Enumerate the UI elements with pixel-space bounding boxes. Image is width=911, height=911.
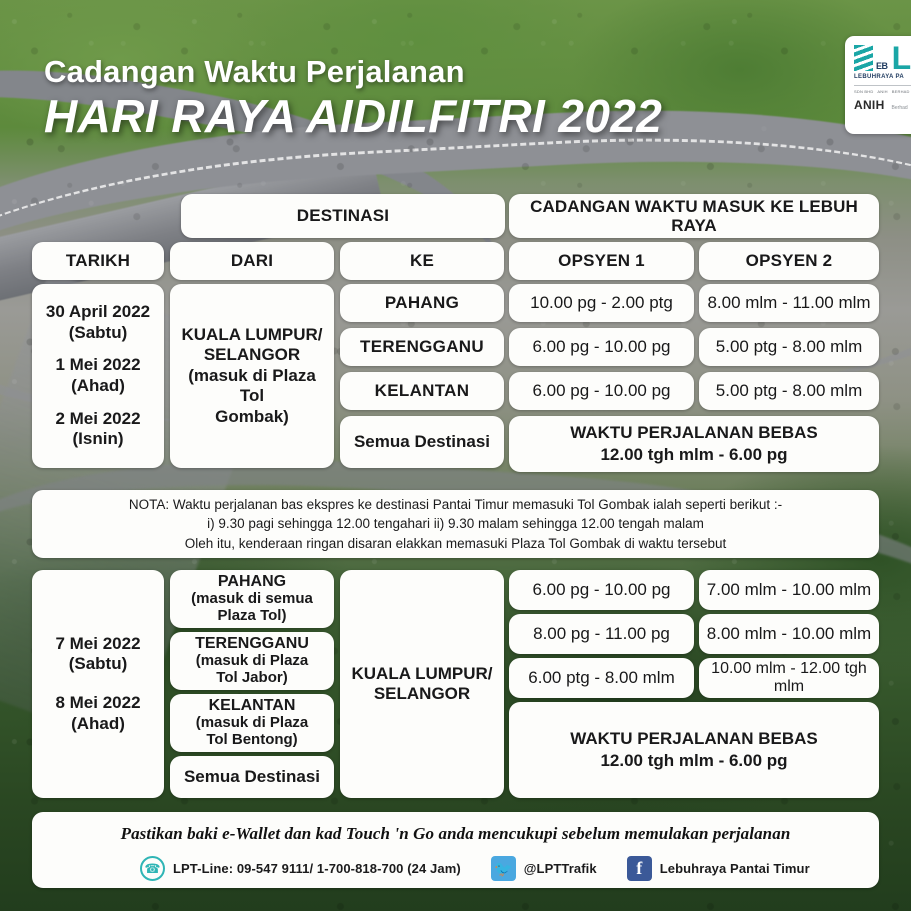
section1-date-line-1: 30 April 2022 bbox=[46, 302, 150, 323]
section2-row-1-opsyen2: 8.00 mlm - 10.00 mlm bbox=[699, 614, 879, 654]
section2-row-2-opsyen1: 6.00 ptg - 8.00 mlm bbox=[509, 658, 694, 698]
group-header-waktu-masuk: CADANGAN WAKTU MASUK KE LEBUH RAYA bbox=[509, 194, 879, 238]
contact-facebook[interactable]: f Lebuhraya Pantai Timur bbox=[627, 856, 810, 881]
section2-destination-line-2: SELANGOR bbox=[374, 684, 470, 704]
section1-from-line-2: SELANGOR bbox=[204, 345, 300, 365]
note-line-2: i) 9.30 pagi sehingga 12.00 tengahari ii… bbox=[207, 514, 704, 533]
footer-panel: Pastikan baki e-Wallet dan kad Touch 'n … bbox=[32, 812, 879, 888]
section2-row-1-origin-note-1: (masuk di Plaza bbox=[196, 653, 309, 670]
logo-subtitle: LEBUHRAYA PA bbox=[854, 74, 911, 80]
phone-icon: ☎ bbox=[140, 856, 165, 881]
section1-from-line-4: Gombak) bbox=[215, 407, 289, 427]
section2-row-2-origin-note-2: Tol Bentong) bbox=[206, 732, 297, 749]
poster-root: Cadangan Waktu Perjalanan HARI RAYA AIDI… bbox=[0, 0, 911, 911]
contact-phone[interactable]: ☎ LPT-Line: 09-547 9111/ 1-700-818-700 (… bbox=[140, 856, 461, 881]
section2-row-2-opsyen2: 10.00 mlm - 12.00 tgh mlm bbox=[699, 658, 879, 698]
section2-date-line-4: (Ahad) bbox=[71, 714, 125, 735]
section1-all-destinations: Semua Destinasi bbox=[340, 416, 504, 468]
section2-row-1-opsyen1: 8.00 pg - 11.00 pg bbox=[509, 614, 694, 654]
section2-row-2-origin-note-1: (masuk di Plaza bbox=[196, 715, 309, 732]
section2-date-line-2: (Sabtu) bbox=[69, 654, 128, 675]
column-header-opsyen-2: OPSYEN 2 bbox=[699, 242, 879, 280]
section2-row-2-origin-name: KELANTAN bbox=[209, 697, 296, 715]
section2-row-0-opsyen2: 7.00 mlm - 10.00 mlm bbox=[699, 570, 879, 610]
section2-date-line-3: 8 Mei 2022 bbox=[55, 693, 140, 714]
section1-row-2-destination: KELANTAN bbox=[340, 372, 504, 410]
group-header-destinasi: DESTINASI bbox=[181, 194, 505, 238]
section1-date-line-5: 2 Mei 2022 bbox=[55, 409, 140, 430]
section2-destination-cell: KUALA LUMPUR/ SELANGOR bbox=[340, 570, 504, 798]
note-panel: NOTA: Waktu perjalanan bas ekspres ke de… bbox=[32, 490, 879, 558]
subtitle-text: Cadangan Waktu Perjalanan bbox=[44, 56, 662, 89]
contact-twitter[interactable]: 🐦 @LPTTrafik bbox=[491, 856, 597, 881]
logo-anih-text: ANIH bbox=[854, 98, 885, 112]
logo-anih-note: Berhad bbox=[892, 105, 908, 111]
section2-row-0-origin-note-1: (masuk di semua bbox=[191, 591, 313, 608]
logo-micro-mid: ANIH bbox=[877, 89, 887, 94]
section1-row-0-opsyen2: 8.00 mlm - 11.00 mlm bbox=[699, 284, 879, 322]
section1-date-line-6: (Isnin) bbox=[73, 429, 124, 450]
twitter-label: @LPTTrafik bbox=[524, 861, 597, 876]
facebook-label: Lebuhraya Pantai Timur bbox=[660, 861, 810, 876]
phone-label: LPT-Line: 09-547 9111/ 1-700-818-700 (24… bbox=[173, 861, 461, 876]
section1-free-time: 12.00 tgh mlm - 6.00 pg bbox=[600, 444, 787, 466]
logo-bars-icon bbox=[854, 45, 873, 71]
section2-row-2-origin: KELANTAN (masuk di Plaza Tol Bentong) bbox=[170, 694, 334, 752]
section1-free-title: WAKTU PERJALANAN BEBAS bbox=[570, 422, 817, 444]
page-title: HARI RAYA AIDILFITRI 2022 bbox=[44, 93, 662, 140]
section2-row-1-origin-note-2: Tol Jabor) bbox=[216, 670, 287, 687]
note-line-3: Oleh itu, kenderaan ringan disaran elakk… bbox=[185, 534, 727, 553]
section1-date-line-3: 1 Mei 2022 bbox=[55, 355, 140, 376]
section2-date-cell: 7 Mei 2022 (Sabtu) 8 Mei 2022 (Ahad) bbox=[32, 570, 164, 798]
section2-destination-line-1: KUALA LUMPUR/ bbox=[351, 664, 492, 684]
section1-row-2-opsyen1: 6.00 pg - 10.00 pg bbox=[509, 372, 694, 410]
section2-date-line-1: 7 Mei 2022 bbox=[55, 634, 140, 655]
section1-row-2-opsyen2: 5.00 ptg - 8.00 mlm bbox=[699, 372, 879, 410]
section1-free-travel-cell: WAKTU PERJALANAN BEBAS 12.00 tgh mlm - 6… bbox=[509, 416, 879, 472]
footer-reminder-text: Pastikan baki e-Wallet dan kad Touch 'n … bbox=[32, 824, 879, 844]
section1-date-line-2: (Sabtu) bbox=[69, 323, 128, 344]
twitter-icon: 🐦 bbox=[491, 856, 516, 881]
section1-row-0-destination: PAHANG bbox=[340, 284, 504, 322]
section1-row-1-destination: TERENGGANU bbox=[340, 328, 504, 366]
section2-free-time: 12.00 tgh mlm - 6.00 pg bbox=[600, 750, 787, 772]
logo-micro-row: SDN BHD ANIH BERHAD bbox=[854, 89, 911, 94]
section2-row-1-origin: TERENGGANU (masuk di Plaza Tol Jabor) bbox=[170, 632, 334, 690]
section1-row-0-opsyen1: 10.00 pg - 2.00 ptg bbox=[509, 284, 694, 322]
logo-divider bbox=[854, 85, 911, 86]
logo-mark-row: EB LPT bbox=[854, 45, 911, 71]
section1-date-cell: 30 April 2022 (Sabtu) 1 Mei 2022 (Ahad) … bbox=[32, 284, 164, 468]
logo-micro-right: BERHAD bbox=[892, 89, 910, 94]
lpt-anih-logo: EB LPT LEBUHRAYA PA SDN BHD ANIH BERHAD … bbox=[845, 36, 911, 134]
section1-row-1-opsyen2: 5.00 ptg - 8.00 mlm bbox=[699, 328, 879, 366]
section2-row-0-origin: PAHANG (masuk di semua Plaza Tol) bbox=[170, 570, 334, 628]
column-header-tarikh: TARIKH bbox=[32, 242, 164, 280]
facebook-icon: f bbox=[627, 856, 652, 881]
section1-from-cell: KUALA LUMPUR/ SELANGOR (masuk di Plaza T… bbox=[170, 284, 334, 468]
section2-free-travel-cell: WAKTU PERJALANAN BEBAS 12.00 tgh mlm - 6… bbox=[509, 702, 879, 798]
footer-contacts: ☎ LPT-Line: 09-547 9111/ 1-700-818-700 (… bbox=[140, 856, 810, 881]
section2-row-1-origin-name: TERENGGANU bbox=[195, 635, 309, 653]
section2-row-0-origin-name: PAHANG bbox=[218, 573, 286, 591]
column-header-ke: KE bbox=[340, 242, 504, 280]
section2-all-destinations: Semua Destinasi bbox=[170, 756, 334, 798]
section1-row-1-opsyen1: 6.00 pg - 10.00 pg bbox=[509, 328, 694, 366]
logo-lpt-text: LPT bbox=[892, 46, 911, 71]
section2-row-0-opsyen1: 6.00 pg - 10.00 pg bbox=[509, 570, 694, 610]
section1-from-line-3: (masuk di Plaza Tol bbox=[176, 366, 328, 407]
logo-micro-left: SDN BHD bbox=[854, 89, 873, 94]
logo-anih-row: ANIH Berhad bbox=[854, 98, 911, 112]
logo-eb-text: EB bbox=[876, 61, 888, 71]
poster-header: Cadangan Waktu Perjalanan HARI RAYA AIDI… bbox=[44, 56, 662, 139]
section2-row-0-origin-note-2: Plaza Tol) bbox=[218, 608, 287, 625]
section1-date-line-4: (Ahad) bbox=[71, 376, 125, 397]
column-header-opsyen-1: OPSYEN 1 bbox=[509, 242, 694, 280]
column-header-dari: DARI bbox=[170, 242, 334, 280]
section1-from-line-1: KUALA LUMPUR/ bbox=[181, 325, 322, 345]
note-line-1: NOTA: Waktu perjalanan bas ekspres ke de… bbox=[129, 495, 782, 514]
section2-free-title: WAKTU PERJALANAN BEBAS bbox=[570, 728, 817, 750]
